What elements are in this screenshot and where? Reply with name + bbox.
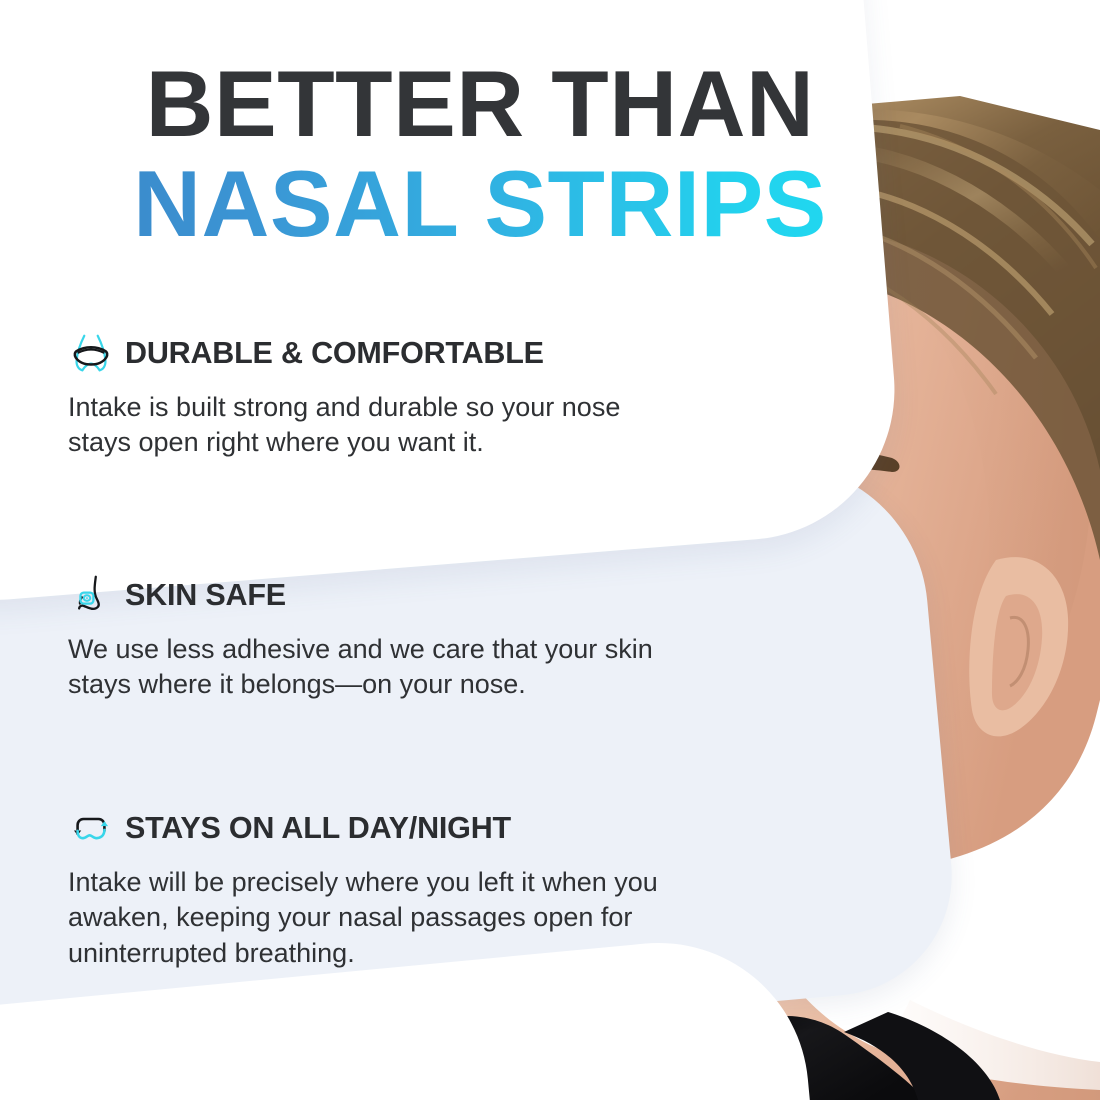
feature-title: SKIN SAFE — [125, 578, 286, 613]
feature-heading: STAYS ON ALL DAY/NIGHT — [68, 805, 700, 851]
feature-stays-on-all-day-night: STAYS ON ALL DAY/NIGHT Intake will be pr… — [68, 805, 700, 970]
nose-profile-with-patch-icon — [68, 572, 114, 618]
arrow-head-up — [101, 822, 108, 827]
feature-heading: DURABLE & COMFORTABLE — [68, 330, 700, 376]
feature-body: We use less adhesive and we care that yo… — [68, 632, 668, 702]
feature-title: DURABLE & COMFORTABLE — [125, 336, 544, 371]
headline-line-2: NASAL STRIPS — [0, 156, 960, 252]
feature-title: STAYS ON ALL DAY/NIGHT — [125, 811, 511, 846]
feature-skin-safe: SKIN SAFE We use less adhesive and we ca… — [68, 572, 700, 702]
headline: BETTER THAN NASAL STRIPS — [0, 58, 960, 252]
infographic-canvas: BETTER THAN NASAL STRIPS DURABLE & COMFO… — [0, 0, 1100, 1100]
nose-with-dilator-icon — [68, 330, 114, 376]
feature-durable-comfortable: DURABLE & COMFORTABLE Intake is built st… — [68, 330, 700, 460]
feature-list: DURABLE & COMFORTABLE Intake is built st… — [0, 330, 700, 971]
headline-line-1: BETTER THAN — [0, 58, 960, 150]
feature-heading: SKIN SAFE — [68, 572, 700, 618]
feature-body: Intake is built strong and durable so yo… — [68, 390, 668, 460]
loop-cycle-dilator-icon — [68, 805, 114, 851]
feature-body: Intake will be precisely where you left … — [68, 865, 700, 970]
